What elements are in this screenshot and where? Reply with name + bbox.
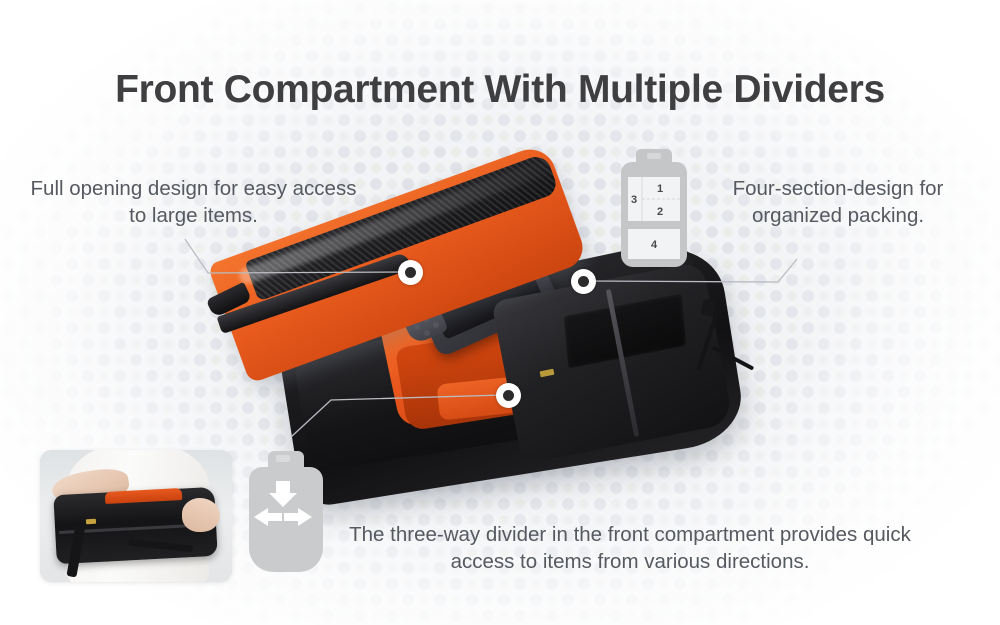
callout-text-three-way: The three-way divider in the front compa… <box>330 522 930 575</box>
diagram-label-2: 2 <box>657 206 663 218</box>
callout-text-full-opening: Full opening design for easy access to l… <box>26 176 361 229</box>
callout-marker-full-opening[interactable] <box>398 260 423 285</box>
backpack-three-way-arrows-diagram <box>238 447 328 572</box>
backpack-four-section-diagram: 1 2 3 4 <box>617 147 691 269</box>
marker-center-dot <box>405 267 416 278</box>
person-hand <box>182 498 220 532</box>
marker-center-dot <box>503 390 514 401</box>
console-button <box>424 330 430 336</box>
diagram-label-3: 3 <box>631 194 637 206</box>
marker-center-dot <box>578 276 589 287</box>
console-button <box>414 324 420 330</box>
callout-marker-four-section[interactable] <box>571 269 596 294</box>
page-title: Front Compartment With Multiple Dividers <box>0 68 1000 112</box>
callout-text-four-section: Four-section-design for organized packin… <box>688 176 988 229</box>
person-holding-backpack-photo <box>40 450 232 582</box>
console-button <box>433 322 439 328</box>
diagram-label-1: 1 <box>657 183 663 195</box>
callout-marker-three-way[interactable] <box>496 383 521 408</box>
infographic-stage: 1 2 3 4 Front Compartment With Multiple … <box>0 0 1000 625</box>
backpack-brand-tab <box>86 518 96 524</box>
diagram-label-4: 4 <box>651 239 658 251</box>
diagram-backpack-silhouette <box>249 451 323 572</box>
